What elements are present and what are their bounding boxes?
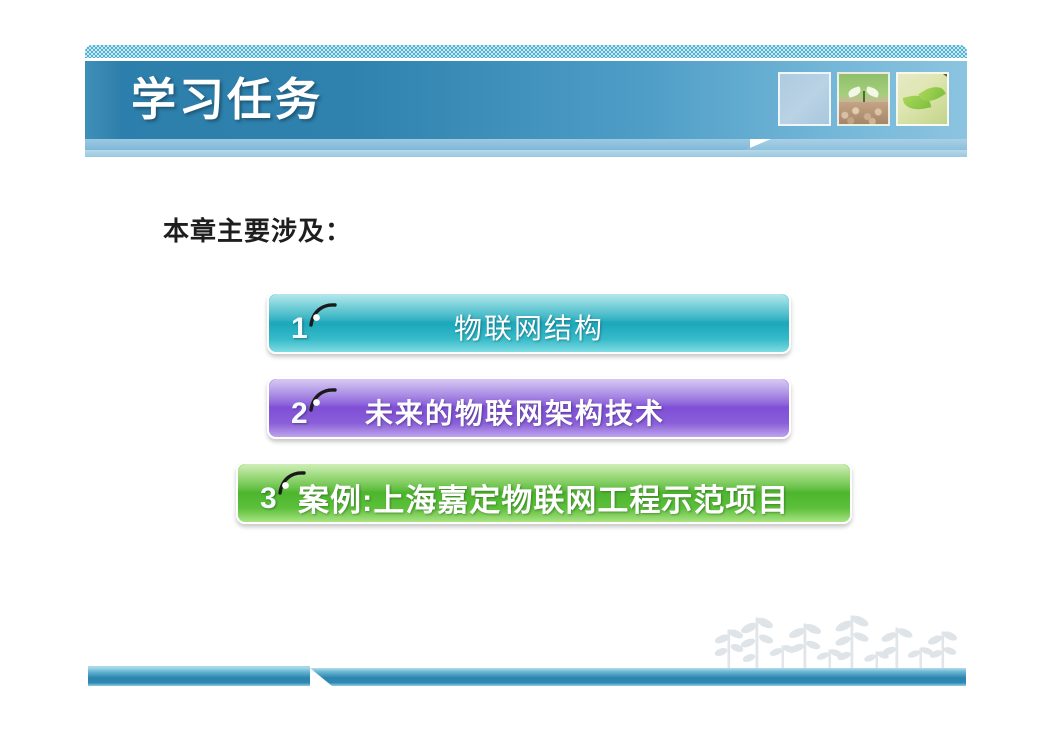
- item-1-label: 物联网结构: [269, 307, 789, 347]
- header-underline-step: [745, 139, 967, 150]
- footer-bar-left-segment: [88, 668, 310, 686]
- thumbnail-green-leaves-photo: [896, 72, 949, 126]
- subheading-text: 本章主要涉及：: [163, 211, 352, 248]
- slide-header: 学习任务: [85, 45, 967, 162]
- branch-icon: [912, 72, 949, 78]
- header-title-band: 学习任务: [85, 61, 967, 139]
- sprout-leaf-left-icon: [847, 86, 862, 98]
- header-underline-thick: [85, 139, 750, 150]
- item-2-number: 2: [291, 399, 308, 429]
- item-2-swoosh-icon: [309, 387, 339, 413]
- header-underline-thin: [85, 150, 967, 157]
- item-2-label: 未来的物联网架构技术: [365, 392, 665, 432]
- header-thumbnail-strip: [778, 72, 949, 126]
- sprout-leaf-right-icon: [865, 86, 880, 98]
- page-title: 学习任务: [131, 67, 323, 133]
- item-3-label: 案例:上海嘉定物联网工程示范项目: [298, 475, 789, 520]
- slide-canvas: 学习任务 本章主要涉及：: [0, 0, 1052, 744]
- soil-texture: [839, 102, 888, 124]
- header-hatch-strip: [85, 45, 967, 58]
- sprout-silhouettes-decoration: [712, 612, 966, 674]
- footer-bar: [88, 666, 966, 688]
- thumbnail-sprout-on-soil-photo: [837, 72, 890, 126]
- footer-bar-right-segment: [310, 668, 966, 686]
- topic-item-1[interactable]: 1 物联网结构: [267, 292, 791, 354]
- header-underline-band: [85, 139, 967, 162]
- item-3-number: 3: [260, 484, 277, 514]
- topic-item-2[interactable]: 2 未来的物联网架构技术: [267, 377, 791, 439]
- thumbnail-plain-blue-swatch: [778, 72, 831, 126]
- topic-item-3[interactable]: 3 案例:上海嘉定物联网工程示范项目: [236, 462, 852, 524]
